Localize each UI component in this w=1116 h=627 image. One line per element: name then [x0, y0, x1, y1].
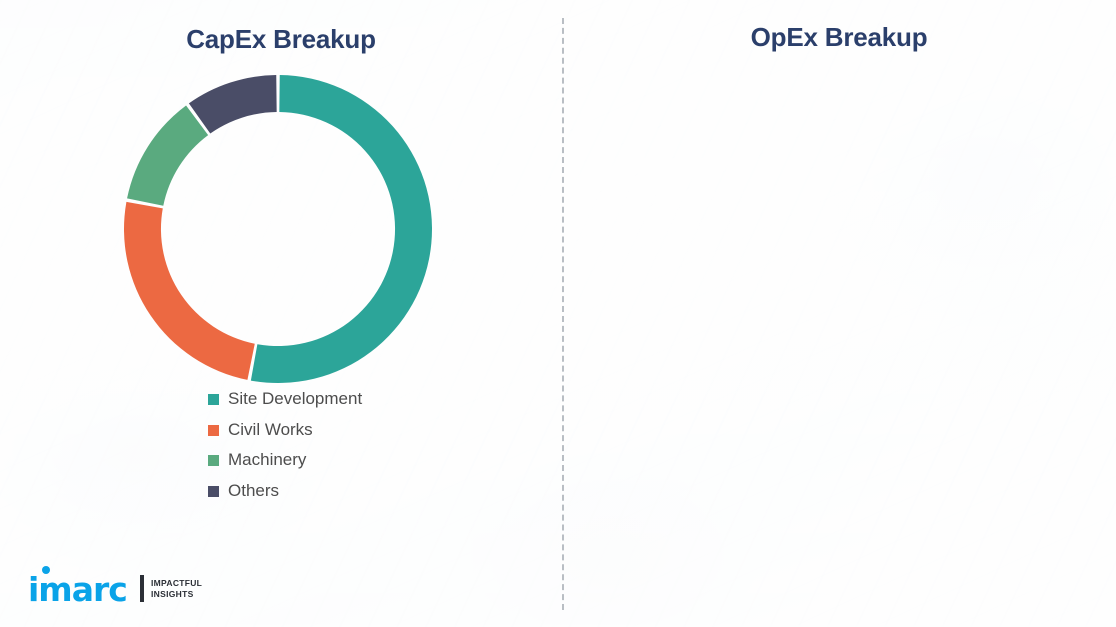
- imarc-logo: imarc IMPACTFUL INSIGHTS: [28, 566, 204, 610]
- capex-legend-item[interactable]: Others: [208, 482, 362, 501]
- legend-item-label: Civil Works: [228, 421, 313, 440]
- legend-item-label: Others: [228, 482, 279, 501]
- capex-donut-chart: [124, 75, 432, 383]
- capex-donut-slice[interactable]: [127, 105, 208, 205]
- legend-color-swatch-icon: [208, 425, 219, 436]
- legend-color-swatch-icon: [208, 486, 219, 497]
- capex-donut-slice[interactable]: [251, 75, 432, 383]
- capex-legend: Site DevelopmentCivil WorksMachineryOthe…: [208, 390, 362, 513]
- logo-tagline-line1: IMPACTFUL: [151, 578, 202, 589]
- legend-color-swatch-icon: [208, 455, 219, 466]
- capex-legend-item[interactable]: Machinery: [208, 451, 362, 470]
- capex-legend-item[interactable]: Site Development: [208, 390, 362, 409]
- capex-chart-title: CapEx Breakup: [0, 24, 562, 55]
- capex-donut-slice[interactable]: [124, 202, 255, 380]
- opex-chart-title: OpEx Breakup: [562, 22, 1116, 53]
- legend-item-label: Site Development: [228, 390, 362, 409]
- panel-divider: [562, 18, 564, 610]
- logo-tagline-line2: INSIGHTS: [151, 589, 202, 600]
- logo-wordmark: imarc: [28, 570, 127, 609]
- legend-item-label: Machinery: [228, 451, 306, 470]
- capex-panel: CapEx Breakup Site DevelopmentCivil Work…: [0, 0, 562, 627]
- capex-legend-item[interactable]: Civil Works: [208, 421, 362, 440]
- capex-donut-slice[interactable]: [189, 75, 277, 134]
- legend-color-swatch-icon: [208, 394, 219, 405]
- opex-panel: OpEx Breakup Raw MaterialsSalaries and W…: [562, 0, 1116, 627]
- capex-donut-svg: [124, 75, 432, 383]
- logo-tagline: IMPACTFUL INSIGHTS: [151, 578, 202, 600]
- logo-divider-bar: [140, 575, 144, 602]
